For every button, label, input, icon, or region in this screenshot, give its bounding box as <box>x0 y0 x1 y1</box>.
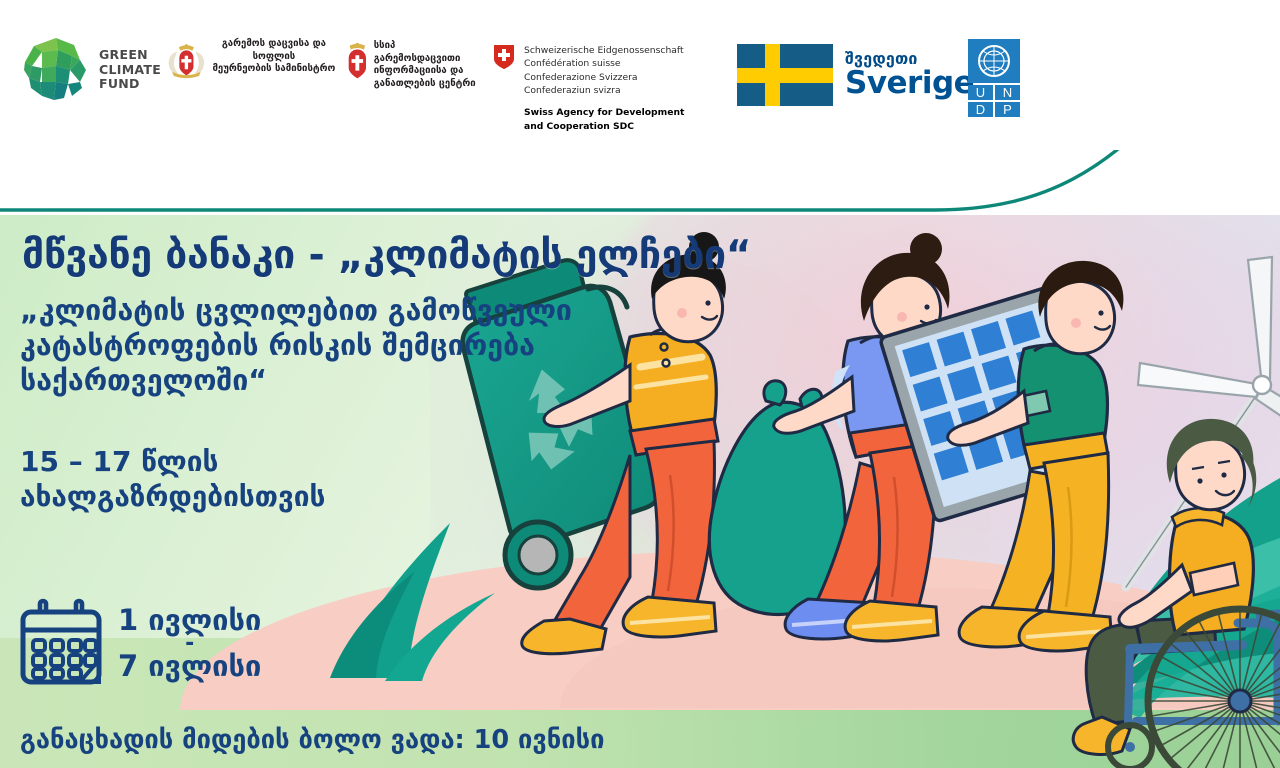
ministry-caption: გარემოს დაცვისა და სოფლის მეურნეობის სამ… <box>211 38 337 76</box>
sweden-label-en: Sverige <box>845 67 974 100</box>
gcf-globe-icon <box>22 36 90 104</box>
logo-ministry-environment-agriculture: გარემოს დაცვისა და სოფლის მეურნეობის სამ… <box>162 36 337 88</box>
svg-text:U: U <box>976 85 985 100</box>
undp-logo-icon: U N D P <box>968 39 1020 117</box>
svg-text:N: N <box>1003 85 1012 100</box>
poster-content: მწვანე ბანაკი - „კლიმატის ელჩები“ „კლიმა… <box>0 205 1280 768</box>
logo-environmental-info-center: სსიპ გარემოსდაცვითი ინფორმაციისა და განა… <box>341 36 481 91</box>
date-range: 1 ივლისი - 7 ივლისი <box>118 606 261 682</box>
logo-sweden-sverige: შვედეთი Sverige <box>737 36 952 106</box>
date-to: 7 ივლისი <box>118 652 261 682</box>
logo-undp: U N D P <box>968 36 1028 117</box>
gcf-wordmark: GREEN CLIMATE FUND <box>99 48 161 92</box>
svg-text:P: P <box>1003 102 1012 117</box>
header-logos-band: GREEN CLIMATE FUND გ <box>0 0 1280 215</box>
georgia-small-crest-icon <box>341 40 374 82</box>
sdc-agency-name: Swiss Agency for Development and Coopera… <box>524 106 684 133</box>
poster-root: GREEN CLIMATE FUND გ <box>0 0 1280 768</box>
project-subtitle: „კლიმატის ცვლილებით გამოწვეული კატასტროფ… <box>20 293 680 398</box>
swiss-names: Schweizerische Eidgenossenschaft Confédé… <box>524 44 684 97</box>
georgia-coat-of-arms-icon <box>162 38 211 82</box>
partner-logo-row: GREEN CLIMATE FUND გ <box>22 36 1028 133</box>
date-row: 1 ივლისი - 7 ივლისი <box>18 598 261 690</box>
sweden-flag-icon <box>737 44 833 106</box>
svg-text:D: D <box>976 102 985 117</box>
logo-swiss-cooperation: Schweizerische Eidgenossenschaft Confédé… <box>493 36 723 133</box>
logo-green-climate-fund: GREEN CLIMATE FUND <box>22 36 162 104</box>
page-title: მწვანე ბანაკი - „კლიმატის ელჩები“ <box>22 233 751 278</box>
swiss-cross-shield-icon <box>493 44 515 70</box>
calendar-icon <box>18 598 104 690</box>
age-group-text: 15 – 17 წლის ახალგაზრდებისთვის <box>20 445 540 514</box>
center-caption: სსიპ გარემოსდაცვითი ინფორმაციისა და განა… <box>374 40 481 91</box>
application-deadline: განაცხადის მიდების ბოლო ვადა: 10 ივნისი <box>20 725 604 755</box>
